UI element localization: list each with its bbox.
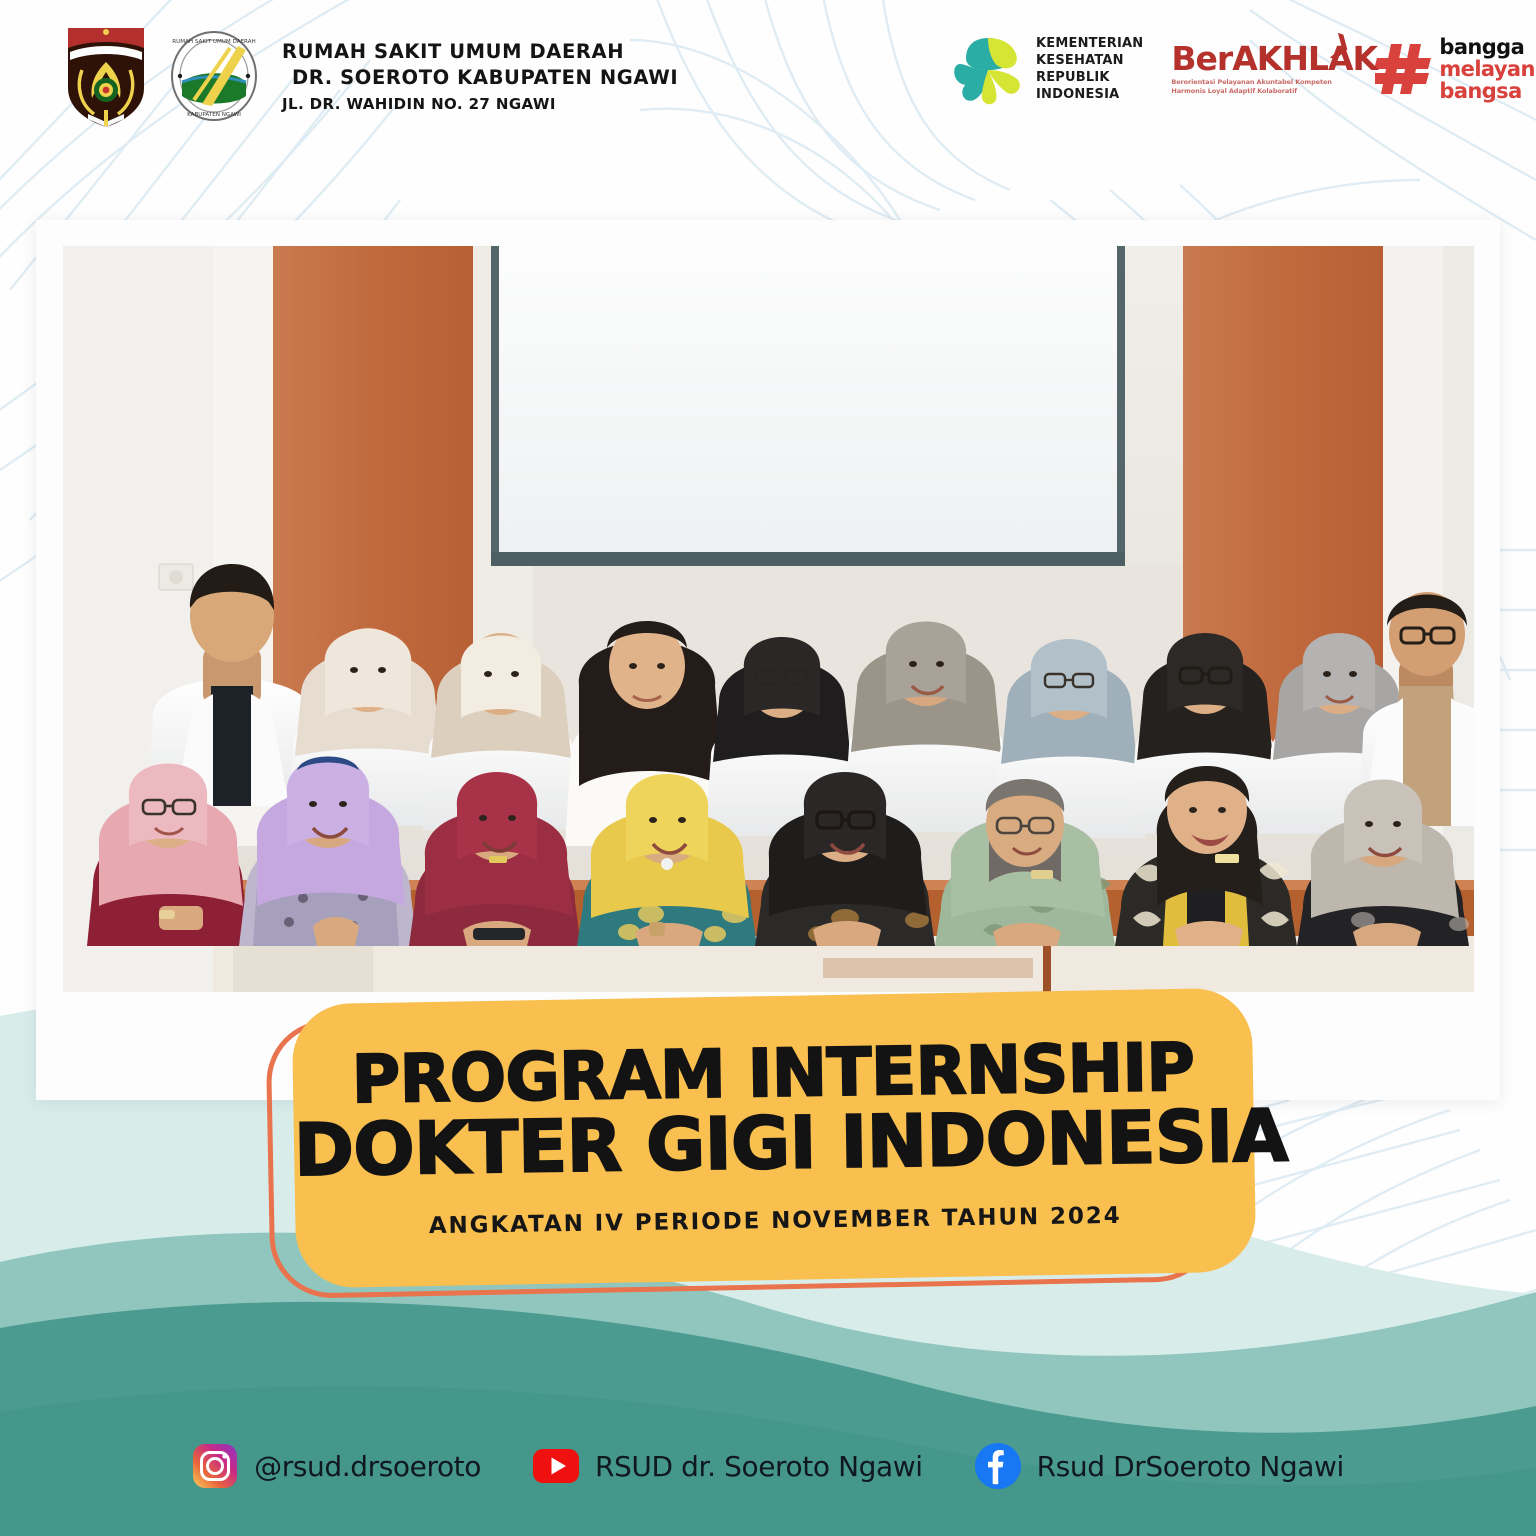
kemenkes-line4: INDONESIA — [1036, 86, 1143, 103]
bangga-melayani-bangsa-block: bangga melayani bangsa — [1375, 36, 1536, 103]
kemenkes-line1: KEMENTERIAN — [1036, 35, 1143, 52]
poster-canvas: RUMAH SAKIT UMUM DAERAH KABUPATEN NGAWI … — [0, 0, 1536, 1536]
bangga-line2: melayani — [1439, 58, 1536, 80]
hospital-name-line1: RUMAH SAKIT UMUM DAERAH — [282, 39, 678, 65]
kemenkes-logo-block: KEMENTERIAN KESEHATAN REPUBLIK INDONESIA — [952, 30, 1143, 108]
banner-card: PROGRAM INTERNSHIP DOKTER GIGI INDONESIA… — [292, 988, 1257, 1289]
hospital-name-line2: DR. SOEROTO KABUPATEN NGAWI — [282, 65, 678, 91]
berakhlak-logo-block: BerAKHLAK ❯ Berorientasi Pelayanan Akunt… — [1171, 42, 1347, 96]
group-photo-internship-dentists — [63, 246, 1474, 992]
poster-header: RUMAH SAKIT UMUM DAERAH KABUPATEN NGAWI … — [0, 0, 1536, 160]
youtube-icon[interactable] — [533, 1443, 579, 1489]
hashtag-icon — [1375, 40, 1433, 98]
poster-subtitle: ANGKATAN IV PERIODE NOVEMBER TAHUN 2024 — [295, 1201, 1255, 1241]
svg-text:RUMAH SAKIT UMUM DAERAH: RUMAH SAKIT UMUM DAERAH — [172, 39, 256, 45]
berakhlak-tagline-line2: Harmonis Loyal Adaptif Kolaboratif — [1171, 87, 1347, 96]
facebook-icon[interactable] — [975, 1443, 1021, 1489]
social-instagram-label: @rsud.drsoeroto — [254, 1450, 481, 1483]
svg-text:KABUPATEN NGAWI: KABUPATEN NGAWI — [187, 112, 241, 118]
berakhlak-prefix: Ber — [1171, 39, 1232, 78]
berakhlak-tagline: Berorientasi Pelayanan Akuntabel Kompete… — [1171, 78, 1347, 96]
bangga-line1: bangga — [1439, 36, 1536, 58]
bangga-wordmark: bangga melayani bangsa — [1439, 36, 1536, 103]
header-hospital-text: RUMAH SAKIT UMUM DAERAH DR. SOEROTO KABU… — [282, 39, 678, 112]
kemenkes-label: KEMENTERIAN KESEHATAN REPUBLIK INDONESIA — [1036, 35, 1143, 104]
social-facebook-label: Rsud DrSoeroto Ngawi — [1037, 1450, 1344, 1483]
instagram-icon[interactable] — [192, 1443, 238, 1489]
poster-title-line2: DOKTER GIGI INDONESIA — [294, 1102, 1255, 1185]
kemenkes-clover-icon — [952, 30, 1024, 108]
berakhlak-tagline-line1: Berorientasi Pelayanan Akuntabel Kompete… — [1171, 78, 1347, 87]
berakhlak-suffix: AKHLAK — [1232, 39, 1377, 78]
ngawi-regency-crest-icon — [60, 22, 152, 130]
social-youtube-label: RSUD dr. Soeroto Ngawi — [595, 1450, 923, 1483]
rsud-soeroto-logo-icon: RUMAH SAKIT UMUM DAERAH KABUPATEN NGAWI — [168, 30, 260, 122]
social-instagram[interactable]: @rsud.drsoeroto — [192, 1443, 481, 1489]
kemenkes-line3: REPUBLIK — [1036, 69, 1143, 86]
social-facebook[interactable]: Rsud DrSoeroto Ngawi — [975, 1443, 1344, 1489]
bangga-line3: bangsa — [1439, 80, 1536, 102]
social-footer-bar: @rsud.drsoeroto RSUD dr. Soeroto Ngawi R… — [0, 1396, 1536, 1536]
kemenkes-line2: KESEHATAN — [1036, 52, 1143, 69]
title-banner: PROGRAM INTERNSHIP DOKTER GIGI INDONESIA… — [268, 996, 1268, 1296]
berakhlak-wordmark: BerAKHLAK ❯ — [1171, 42, 1347, 75]
hospital-address: JL. DR. WAHIDIN NO. 27 NGAWI — [282, 95, 678, 113]
header-hospital-identity: RUMAH SAKIT UMUM DAERAH KABUPATEN NGAWI … — [60, 22, 678, 130]
header-partner-logos: KEMENTERIAN KESEHATAN REPUBLIK INDONESIA… — [952, 30, 1536, 108]
social-youtube[interactable]: RSUD dr. Soeroto Ngawi — [533, 1443, 923, 1489]
